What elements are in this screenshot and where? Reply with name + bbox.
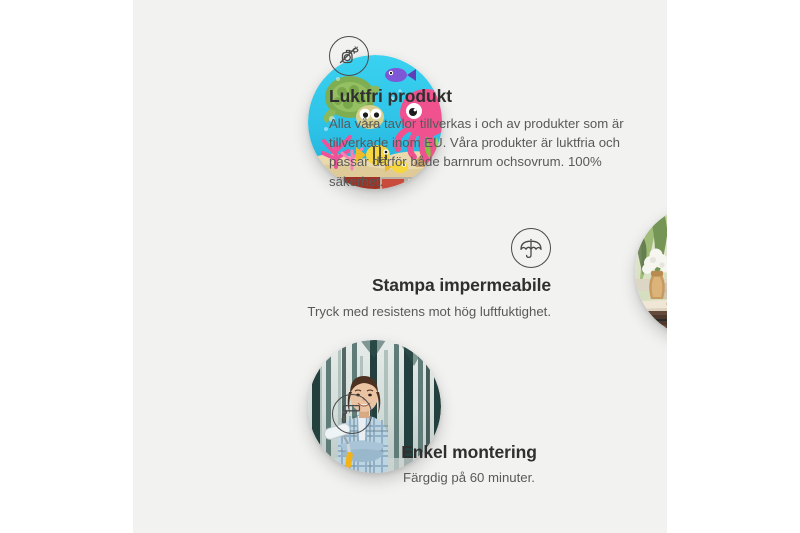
- feature-title-odourless: Luktfri produkt: [329, 86, 635, 108]
- feature-title-waterproof: Stampa impermeabile: [215, 275, 551, 297]
- screenshot-stage: Luktfri produkt Alla våra tavlor tillver…: [0, 0, 800, 533]
- content-panel: Luktfri produkt Alla våra tavlor tillver…: [133, 0, 667, 533]
- icon-wrap-assembly: [332, 394, 609, 434]
- feature-title-assembly: Enkel montering: [329, 442, 609, 464]
- icon-wrap-odourless: [329, 36, 635, 76]
- no-spray-bottle-icon: [329, 36, 369, 76]
- bathroom-illustration: [635, 205, 667, 338]
- photo-circle-bathroom: [635, 205, 667, 338]
- umbrella-icon: [511, 228, 551, 268]
- feature-block-odourless: Luktfri produkt Alla våra tavlor tillver…: [329, 36, 635, 191]
- paint-roller-icon: [332, 394, 372, 434]
- feature-description-waterproof: Tryck med resistens mot hög luftfuktighe…: [215, 302, 551, 321]
- feature-block-waterproof: Stampa impermeabile Tryck med resistens …: [215, 228, 551, 321]
- icon-wrap-waterproof: [215, 228, 551, 268]
- feature-block-assembly: Enkel montering Färgdig på 60 minuter.: [329, 394, 609, 487]
- feature-description-odourless: Alla våra tavlor tillverkas i och av pro…: [329, 114, 635, 191]
- feature-description-assembly: Färgdig på 60 minuter.: [329, 468, 609, 487]
